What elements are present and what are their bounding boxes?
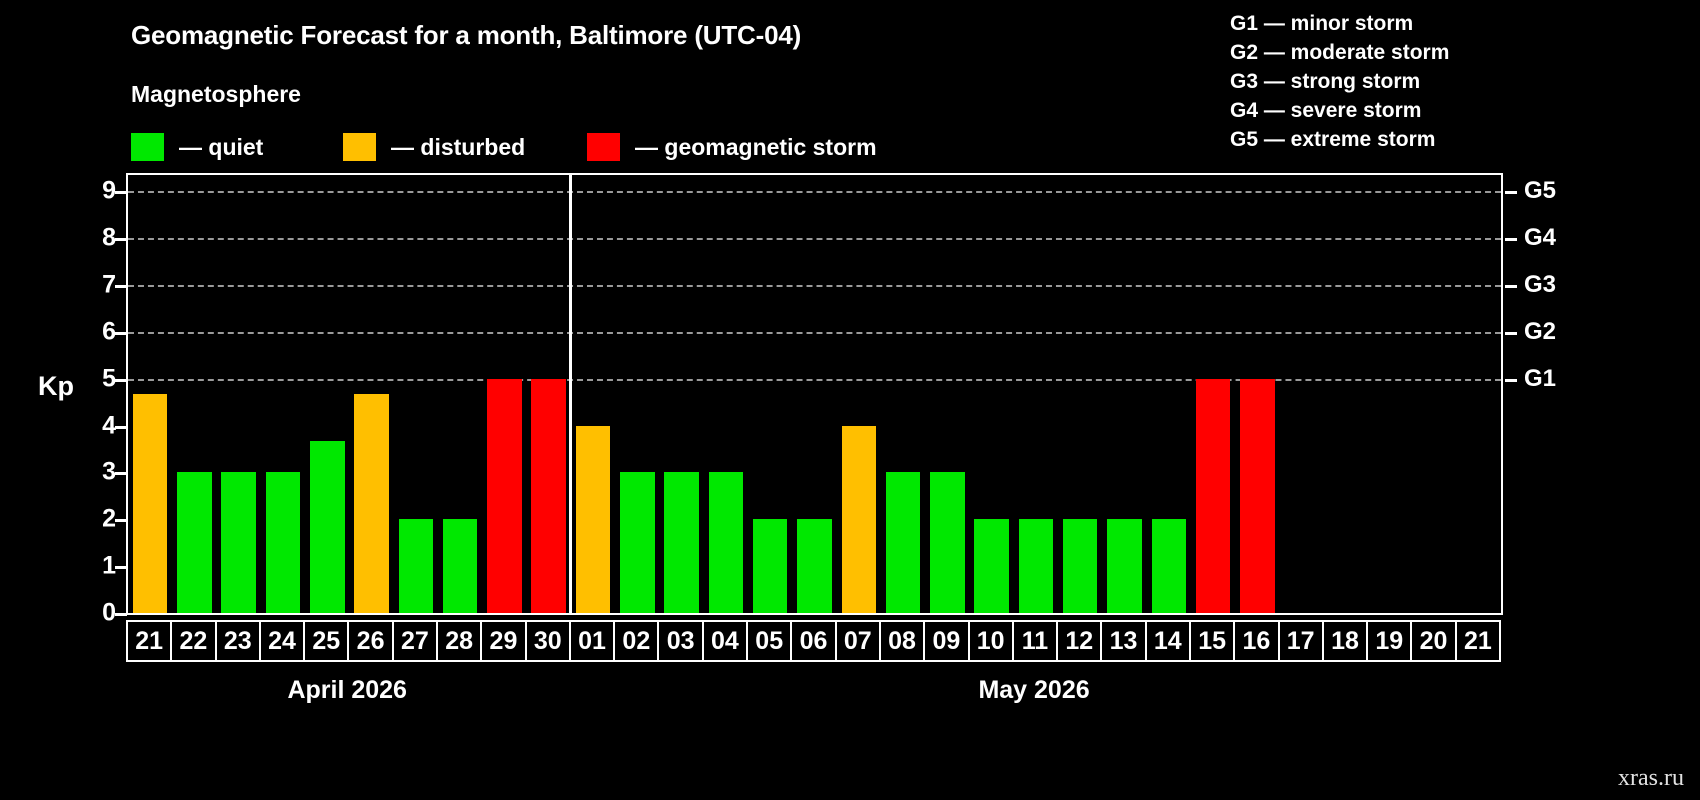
g-scale-line-4: G4 — severe storm xyxy=(1230,97,1449,126)
gridline-kp-6 xyxy=(128,332,1501,334)
g-scale-line-2: G2 — moderate storm xyxy=(1230,39,1449,68)
g-tick-G4 xyxy=(1505,238,1517,241)
y-tick-0 xyxy=(115,613,127,616)
date-cell-14[interactable]: 05 xyxy=(746,620,792,662)
y-tick-label-7: 7 xyxy=(76,271,116,300)
g-scale-line-3: G3 — strong storm xyxy=(1230,68,1449,97)
bar-22[interactable] xyxy=(177,472,212,613)
legend-swatch-storm-icon xyxy=(587,133,620,161)
bar-21[interactable] xyxy=(133,394,168,613)
month-separator xyxy=(569,173,572,615)
page-title: Geomagnetic Forecast for a month, Baltim… xyxy=(131,20,801,51)
legend-swatch-quiet-icon xyxy=(131,133,164,161)
y-tick-label-8: 8 xyxy=(76,224,116,253)
date-cell-0[interactable]: 21 xyxy=(126,620,172,662)
bar-30[interactable] xyxy=(531,379,566,613)
y-tick-5 xyxy=(115,379,127,382)
bar-09[interactable] xyxy=(930,472,965,613)
g-axis-label-G3: G3 xyxy=(1524,271,1556,299)
y-tick-label-0: 0 xyxy=(76,599,116,628)
y-tick-6 xyxy=(115,332,127,335)
bar-29[interactable] xyxy=(487,379,522,613)
date-cell-9[interactable]: 30 xyxy=(525,620,571,662)
bar-28[interactable] xyxy=(443,519,478,613)
date-cell-24[interactable]: 15 xyxy=(1189,620,1235,662)
gridline-kp-8 xyxy=(128,238,1501,240)
bar-25[interactable] xyxy=(310,441,345,613)
g-tick-G3 xyxy=(1505,285,1517,288)
date-cell-23[interactable]: 14 xyxy=(1145,620,1191,662)
bar-16[interactable] xyxy=(1240,379,1275,613)
y-tick-7 xyxy=(115,285,127,288)
g-axis-label-G4: G4 xyxy=(1524,224,1556,252)
bar-13[interactable] xyxy=(1107,519,1142,613)
y-axis-title: Kp xyxy=(38,371,74,402)
date-cell-4[interactable]: 25 xyxy=(303,620,349,662)
bar-07[interactable] xyxy=(842,426,877,613)
date-cell-17[interactable]: 08 xyxy=(879,620,925,662)
y-tick-8 xyxy=(115,238,127,241)
month-label-0: April 2026 xyxy=(287,676,407,705)
y-tick-label-4: 4 xyxy=(76,411,116,440)
bar-15[interactable] xyxy=(1196,379,1231,613)
date-cell-7[interactable]: 28 xyxy=(436,620,482,662)
gridline-kp-7 xyxy=(128,285,1501,287)
g-scale-line-5: G5 — extreme storm xyxy=(1230,126,1449,155)
gridline-kp-9 xyxy=(128,191,1501,193)
date-cell-19[interactable]: 10 xyxy=(968,620,1014,662)
bar-14[interactable] xyxy=(1152,519,1187,613)
date-cell-6[interactable]: 27 xyxy=(392,620,438,662)
magnetosphere-label: Magnetosphere xyxy=(131,81,301,108)
y-tick-label-1: 1 xyxy=(76,552,116,581)
y-tick-4 xyxy=(115,426,127,429)
y-tick-label-9: 9 xyxy=(76,177,116,206)
bar-23[interactable] xyxy=(221,472,256,613)
date-cell-18[interactable]: 09 xyxy=(923,620,969,662)
month-label-1: May 2026 xyxy=(978,676,1089,705)
date-cell-12[interactable]: 03 xyxy=(657,620,703,662)
bar-08[interactable] xyxy=(886,472,921,613)
y-tick-label-2: 2 xyxy=(76,505,116,534)
bar-02[interactable] xyxy=(620,472,655,613)
date-cell-15[interactable]: 06 xyxy=(790,620,836,662)
bar-06[interactable] xyxy=(797,519,832,613)
date-cell-20[interactable]: 11 xyxy=(1012,620,1058,662)
g-scale-legend: G1 — minor stormG2 — moderate stormG3 — … xyxy=(1230,10,1449,155)
date-cell-3[interactable]: 24 xyxy=(259,620,305,662)
date-cell-13[interactable]: 04 xyxy=(702,620,748,662)
y-tick-label-3: 3 xyxy=(76,458,116,487)
legend-item-quiet: — quiet xyxy=(131,132,263,162)
bar-24[interactable] xyxy=(266,472,301,613)
date-cell-25[interactable]: 16 xyxy=(1233,620,1279,662)
date-cell-27[interactable]: 18 xyxy=(1322,620,1368,662)
bar-26[interactable] xyxy=(354,394,389,613)
y-tick-9 xyxy=(115,191,127,194)
date-cell-1[interactable]: 22 xyxy=(170,620,216,662)
date-cell-2[interactable]: 23 xyxy=(215,620,261,662)
bar-27[interactable] xyxy=(399,519,434,613)
gridline-kp-5 xyxy=(128,379,1501,381)
g-tick-G5 xyxy=(1505,191,1517,194)
date-cell-29[interactable]: 20 xyxy=(1410,620,1456,662)
g-axis-label-G1: G1 xyxy=(1524,365,1556,393)
bar-04[interactable] xyxy=(709,472,744,613)
bar-10[interactable] xyxy=(974,519,1009,613)
date-cell-16[interactable]: 07 xyxy=(835,620,881,662)
legend-item-disturbed: — disturbed xyxy=(343,132,525,162)
legend-label-quiet: — quiet xyxy=(179,134,263,161)
g-scale-line-1: G1 — minor storm xyxy=(1230,10,1449,39)
bar-11[interactable] xyxy=(1019,519,1054,613)
bar-05[interactable] xyxy=(753,519,788,613)
y-tick-3 xyxy=(115,472,127,475)
bar-12[interactable] xyxy=(1063,519,1098,613)
bar-01[interactable] xyxy=(576,426,611,613)
date-cell-22[interactable]: 13 xyxy=(1100,620,1146,662)
g-axis-label-G2: G2 xyxy=(1524,318,1556,346)
date-axis: 2122232425262728293001020304050607080910… xyxy=(126,620,1499,662)
date-cell-8[interactable]: 29 xyxy=(480,620,526,662)
date-cell-11[interactable]: 02 xyxy=(613,620,659,662)
g-tick-G1 xyxy=(1505,379,1517,382)
date-cell-10[interactable]: 01 xyxy=(569,620,615,662)
date-cell-30[interactable]: 21 xyxy=(1455,620,1501,662)
date-cell-28[interactable]: 19 xyxy=(1366,620,1412,662)
y-tick-label-6: 6 xyxy=(76,317,116,346)
y-tick-1 xyxy=(115,566,127,569)
date-cell-26[interactable]: 17 xyxy=(1278,620,1324,662)
watermark: xras.ru xyxy=(1618,765,1684,792)
legend-label-storm: — geomagnetic storm xyxy=(635,134,877,161)
y-tick-label-5: 5 xyxy=(76,364,116,393)
date-cell-21[interactable]: 12 xyxy=(1056,620,1102,662)
date-cell-5[interactable]: 26 xyxy=(347,620,393,662)
geomagnetic-forecast-chart: Geomagnetic Forecast for a month, Baltim… xyxy=(0,0,1700,800)
bar-03[interactable] xyxy=(664,472,699,613)
plot-area: 0123456789G1G2G3G4G5 xyxy=(126,173,1503,615)
g-tick-G2 xyxy=(1505,332,1517,335)
legend-label-disturbed: — disturbed xyxy=(391,134,525,161)
g-axis-label-G5: G5 xyxy=(1524,177,1556,205)
legend-item-storm: — geomagnetic storm xyxy=(587,132,877,162)
y-tick-2 xyxy=(115,519,127,522)
legend-swatch-disturbed-icon xyxy=(343,133,376,161)
